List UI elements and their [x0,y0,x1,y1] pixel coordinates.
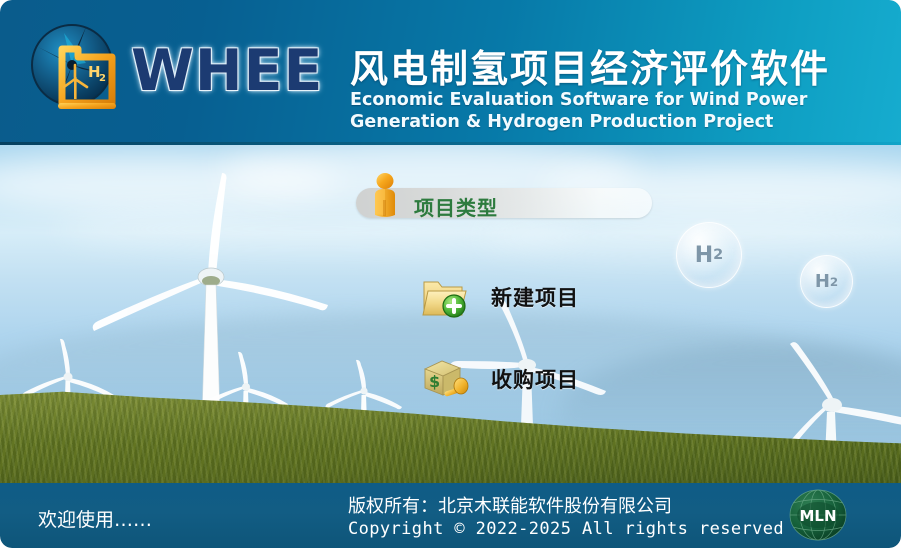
whee-emblem-icon: H 2 [28,19,123,114]
menu-item-acquire-project-label: 收购项目 [491,364,579,394]
app-title-en: Economic Evaluation Software for Wind Po… [350,89,807,133]
logo-wordmark: WHEE [131,38,323,104]
copyright-cn: 版权所有：北京木联能软件股份有限公司 [348,492,672,518]
hydrogen-bubble-sub: 2 [830,275,838,289]
app-footer: 欢迎使用…… 版权所有：北京木联能软件股份有限公司 Copyright © 20… [0,483,901,548]
app-header: H 2 WHEE 风电制氢项目经济评价软件 Economic Evaluatio… [0,0,901,145]
menu-item-new-project[interactable]: 新建项目 [420,273,579,321]
welcome-message: 欢迎使用…… [38,505,152,532]
app-title-en-line1: Economic Evaluation Software for Wind Po… [350,89,807,111]
money-box-gavel-icon: $ [420,355,472,403]
mln-globe-icon: MLN [788,486,848,544]
svg-text:$: $ [429,372,440,391]
app-title-en-line2: Generation & Hydrogen Production Project [350,111,807,133]
copyright-en: Copyright © 2022-2025 All rights reserve… [348,519,784,539]
project-type-label: 项目类型 [414,192,498,221]
menu-item-acquire-project[interactable]: $ 收购项目 [420,355,579,403]
app-title-cn: 风电制氢项目经济评价软件 [350,38,830,93]
hydrogen-bubble-label: H [815,271,830,292]
person-icon [368,172,406,220]
hydrogen-bubble-icon: H2 [676,222,742,288]
mln-logo-text: MLN [799,507,836,525]
splash-window: H 2 WHEE 风电制氢项目经济评价软件 Economic Evaluatio… [0,0,901,548]
hydrogen-bubble-sub: 2 [713,247,723,263]
hydrogen-bubble-label: H [695,243,713,268]
svg-text:2: 2 [99,73,106,84]
folder-add-icon [420,273,472,321]
hydrogen-bubble-icon: H2 [800,255,853,308]
menu-item-new-project-label: 新建项目 [491,282,579,312]
